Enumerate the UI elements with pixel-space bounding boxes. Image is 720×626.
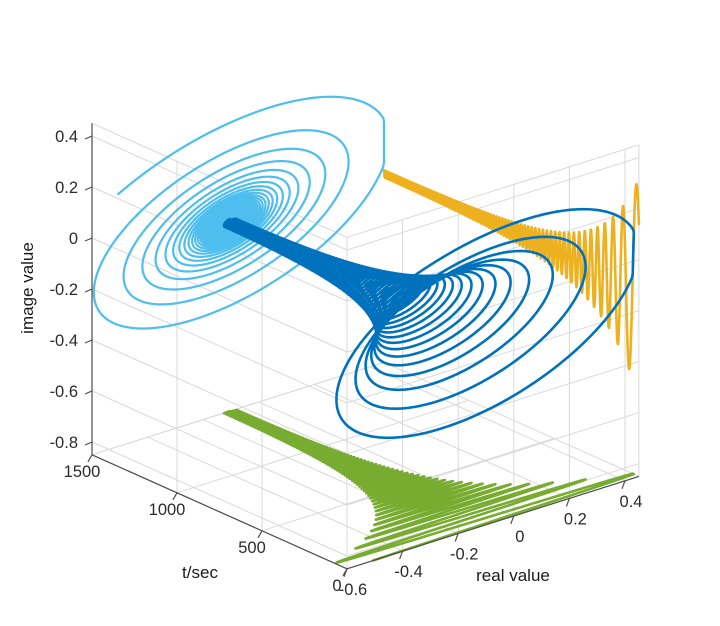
xtick-label-1: 1000	[149, 501, 186, 519]
ztick-label-4: -0.4	[50, 332, 78, 350]
ytick-label-2: -0.2	[450, 546, 478, 564]
tick-imag	[85, 340, 92, 343]
axis-title-t: t/sec	[182, 563, 218, 582]
ztick-label-6: -0.8	[50, 434, 78, 452]
ztick-label-1: 0.2	[55, 179, 78, 197]
tick-imag	[85, 442, 92, 445]
tick-t	[258, 531, 262, 538]
ytick-label-0: -0.6	[339, 581, 367, 599]
axis-title-imag: image value	[18, 242, 37, 334]
ytick-label-3: 0	[515, 528, 524, 546]
ztick-label-0: 0.4	[55, 128, 78, 146]
ytick-label-5: 0.4	[620, 493, 643, 511]
tick-imag	[85, 187, 92, 190]
ztick-label-5: -0.6	[50, 383, 78, 401]
tick-imag	[85, 238, 92, 241]
ytick-label-4: 0.2	[564, 510, 587, 528]
ytick-label-1: -0.4	[394, 563, 422, 581]
tick-t	[88, 455, 92, 462]
ztick-label-2: 0	[69, 230, 78, 248]
xtick-label-2: 500	[238, 539, 266, 557]
tick-imag	[85, 136, 92, 139]
xtick-label-0: 1500	[64, 463, 101, 481]
figure-canvas: 0.40.20-0.2-0.4-0.6-0.8150010005000-0.6-…	[0, 0, 720, 626]
ztick-label-3: -0.2	[50, 281, 78, 299]
tick-imag	[85, 289, 92, 292]
plot-svg: 0.40.20-0.2-0.4-0.6-0.8150010005000-0.6-…	[0, 0, 720, 626]
tick-t	[173, 493, 177, 500]
tick-imag	[85, 391, 92, 394]
axis-title-real: real value	[476, 566, 550, 585]
